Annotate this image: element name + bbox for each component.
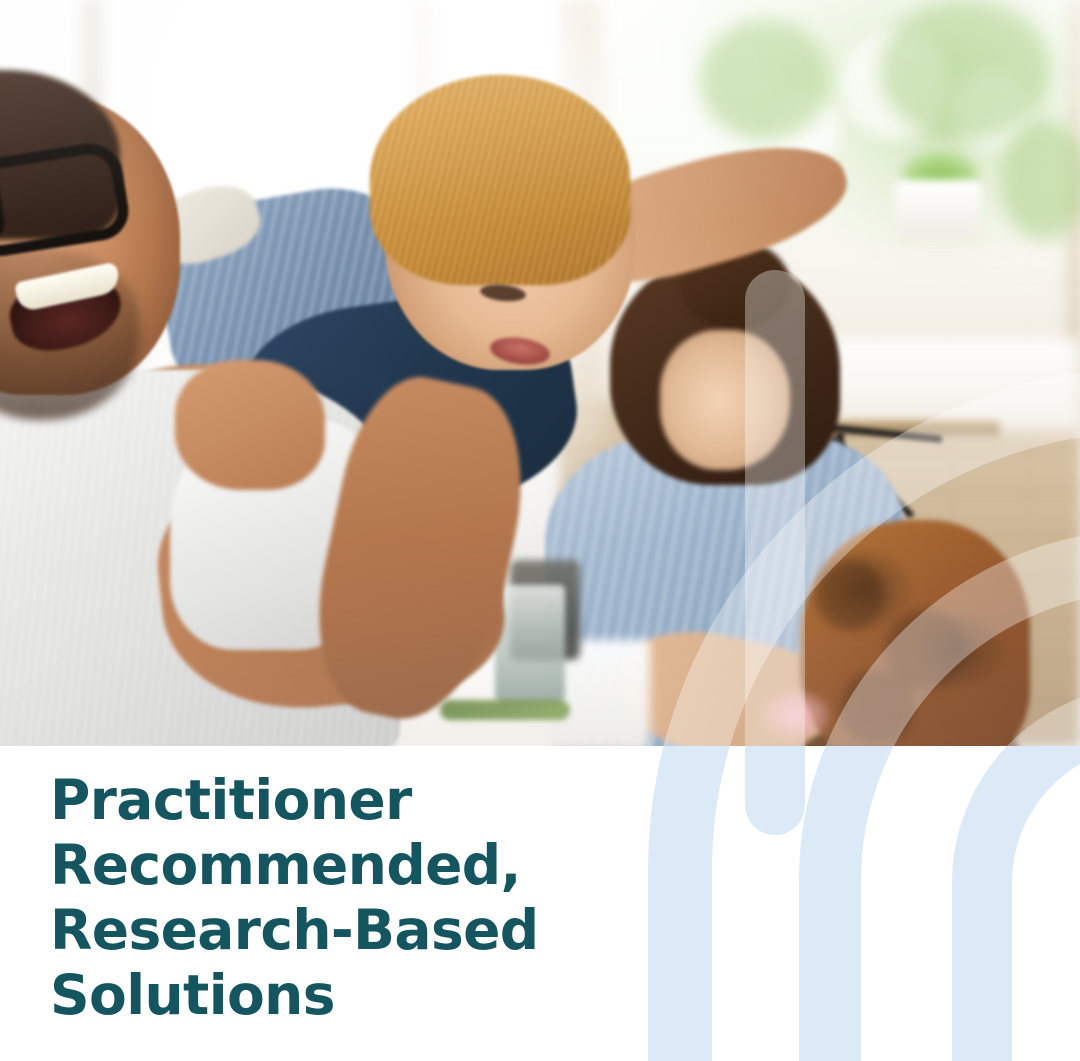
headline-band: Practitioner Recommended, Research-Based… xyxy=(0,746,1080,1061)
headline-line-4: Solutions xyxy=(50,963,670,1028)
photo-light-veil xyxy=(0,0,1080,746)
headline-line-1: Practitioner xyxy=(50,768,670,833)
page-title: Practitioner Recommended, Research-Based… xyxy=(50,768,670,1028)
headline-line-3: Research-Based xyxy=(50,898,670,963)
poster-canvas: Practitioner Recommended, Research-Based… xyxy=(0,0,1080,1061)
headline-line-2: Recommended, xyxy=(50,833,670,898)
hero-image xyxy=(0,0,1080,746)
